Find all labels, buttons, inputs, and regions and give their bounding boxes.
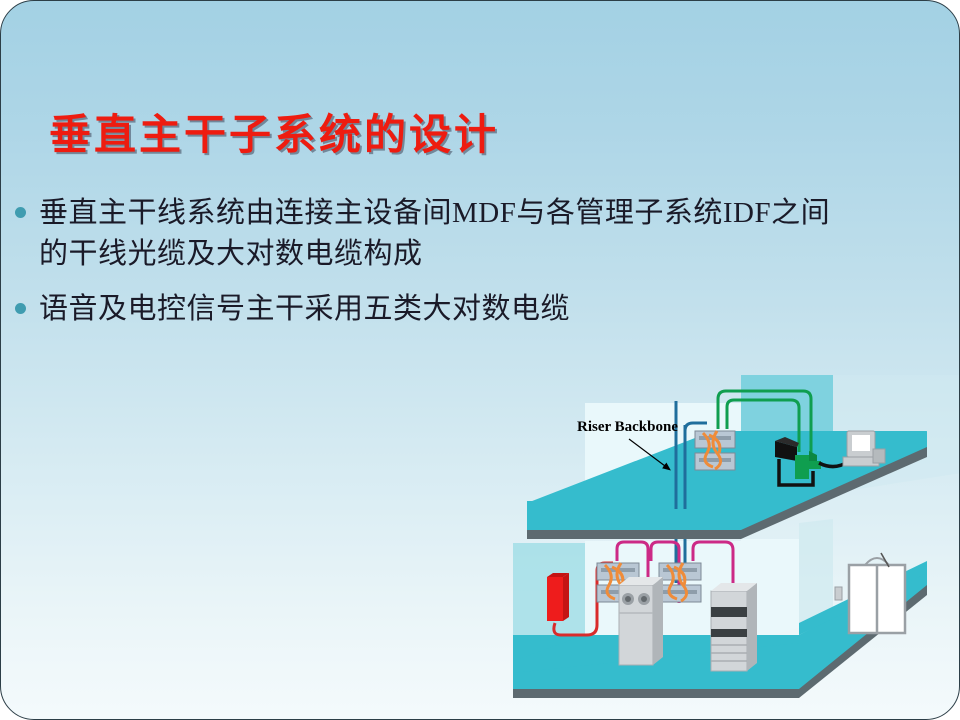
elevator-call-button	[835, 587, 842, 600]
bullet-dot-icon	[15, 303, 26, 314]
page-title: 垂直主干子系统的设计	[49, 101, 499, 162]
riser-backbone-label: Riser Backbone	[577, 419, 678, 435]
pbx-cabinet	[589, 577, 663, 665]
riser-backbone-diagram: Riser Backbone	[513, 373, 960, 720]
bullet-dot-icon	[15, 207, 26, 218]
lower-slab-edge	[513, 689, 799, 698]
fire-alarm-panel	[547, 573, 569, 621]
upper-slab-front	[527, 501, 741, 533]
bullet-text: 垂直主干线系统由连接主设备间MDF与各管理子系统IDF之间的干线光缆及大对数电缆…	[39, 193, 845, 275]
server-rack	[711, 583, 757, 671]
list-item: 语音及电控信号主干采用五类大对数电缆	[15, 289, 845, 330]
upper-slab-edge	[527, 530, 741, 539]
list-item: 垂直主干线系统由连接主设备间MDF与各管理子系统IDF之间的干线光缆及大对数电缆…	[15, 193, 845, 275]
slide-canvas: 垂直主干子系统的设计 垂直主干线系统由连接主设备间MDF与各管理子系统IDF之间…	[0, 0, 960, 720]
bullet-text: 语音及电控信号主干采用五类大对数电缆	[39, 289, 570, 330]
bullet-list: 垂直主干线系统由连接主设备间MDF与各管理子系统IDF之间的干线光缆及大对数电缆…	[15, 193, 845, 345]
